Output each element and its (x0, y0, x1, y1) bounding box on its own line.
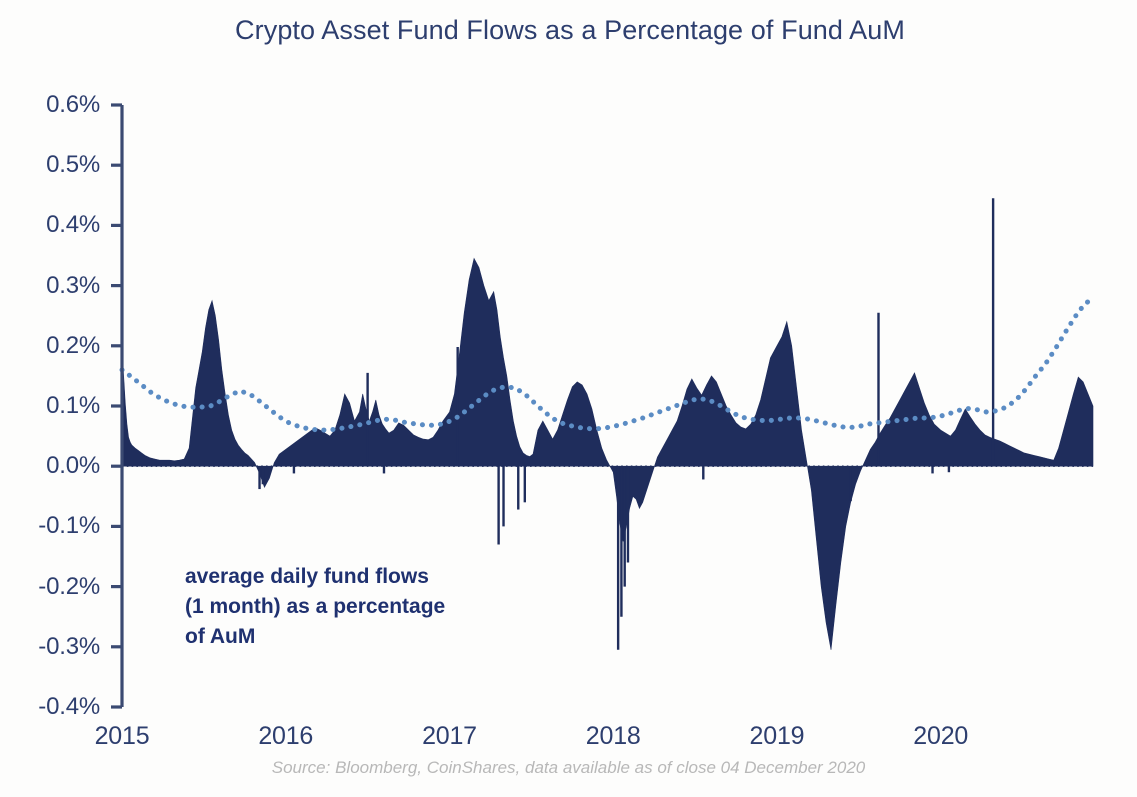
x-axis-tick-label: 2020 (913, 722, 968, 751)
source-note: Source: Bloomberg, CoinShares, data avai… (0, 758, 1137, 778)
series-annotation-label: average daily fund flows (1 month) as a … (185, 562, 445, 651)
x-axis-tick-label: 2019 (750, 722, 805, 751)
chart-container: Crypto Asset Fund Flows as a Percentage … (0, 0, 1137, 797)
x-axis-tick-label: 2017 (422, 722, 477, 751)
x-axis-tick-label: 2018 (586, 722, 641, 751)
chart-plot-area (0, 0, 1137, 797)
x-axis-tick-label: 2016 (258, 722, 313, 751)
trend-line-dotted (122, 299, 1093, 430)
x-axis-tick-label: 2015 (95, 722, 150, 751)
